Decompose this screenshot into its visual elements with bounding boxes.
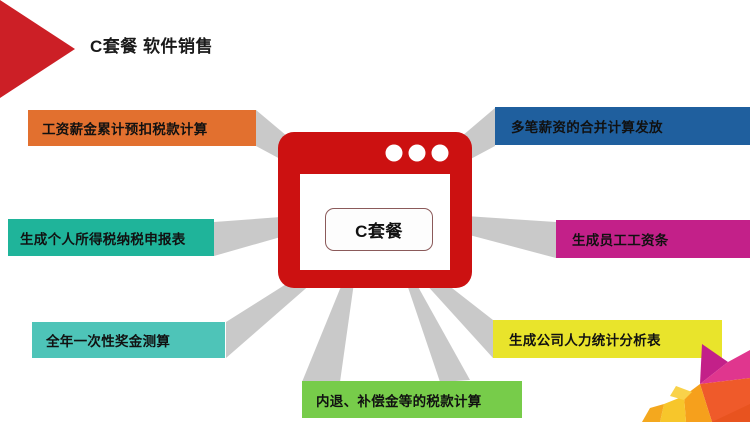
window-dot-1 (386, 145, 403, 162)
slide-canvas: C套餐 C套餐 软件销售 工资薪金累计预扣税款计算 多笔薪资的合并计算发放 生成… (0, 0, 750, 422)
callout-annual-bonus-estimate[interactable]: 全年一次性奖金测算 (32, 322, 225, 358)
callout-retirement-compensation-tax[interactable]: 内退、补偿金等的税款计算 (302, 381, 522, 418)
callout-label: 工资薪金累计预扣税款计算 (42, 118, 208, 138)
callout-label: 生成公司人力统计分析表 (509, 329, 661, 349)
center-package-label: C套餐 (325, 208, 433, 251)
callout-label: 生成员工工资条 (572, 229, 669, 249)
callout-multi-payroll-merge[interactable]: 多笔薪资的合并计算发放 (495, 107, 750, 145)
callout-hr-statistics-report[interactable]: 生成公司人力统计分析表 (493, 320, 722, 358)
window-dot-2 (409, 145, 426, 162)
callout-label: 多笔薪资的合并计算发放 (511, 116, 663, 136)
callout-label: 内退、补偿金等的税款计算 (316, 390, 482, 410)
callout-salary-withholding[interactable]: 工资薪金累计预扣税款计算 (28, 110, 256, 146)
page-title: C套餐 软件销售 (90, 32, 213, 57)
callout-income-tax-return[interactable]: 生成个人所得税纳税申报表 (8, 219, 214, 256)
red-arrow-decoration (0, 0, 75, 98)
callout-label: 生成个人所得税纳税申报表 (20, 228, 186, 248)
callout-payslip-generation[interactable]: 生成员工工资条 (556, 220, 750, 258)
callout-label: 全年一次性奖金测算 (46, 330, 170, 350)
window-dot-3 (432, 145, 449, 162)
